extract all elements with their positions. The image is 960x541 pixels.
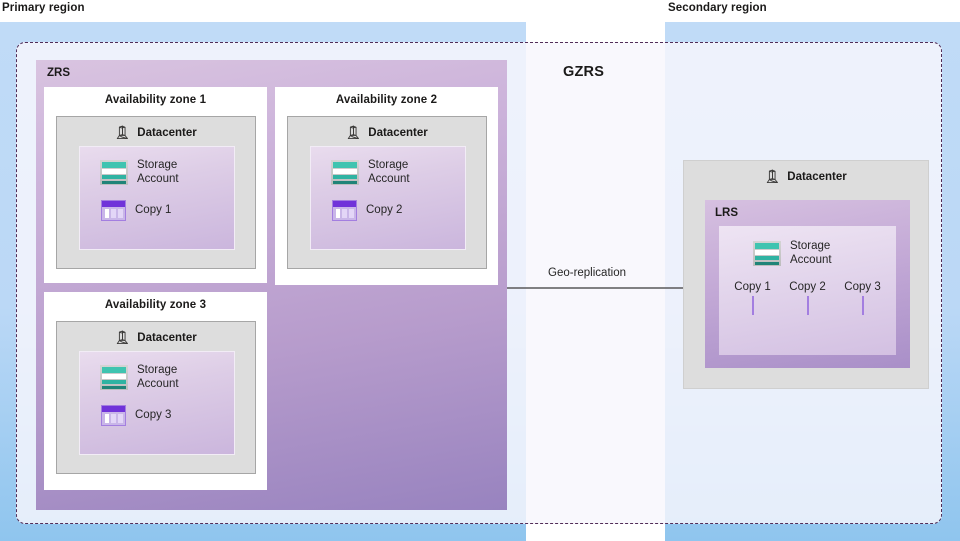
storage-label-line1: Storage: [790, 240, 830, 252]
storage-account-label-zone-3: Storage Account: [137, 364, 179, 391]
copy-label-zone-3: Copy 3: [135, 409, 171, 423]
copy-row-zone-1: Copy 1: [80, 186, 234, 221]
datacenter-icon: [346, 124, 363, 141]
availability-zone-2-title: Availability zone 2: [275, 87, 498, 106]
copy-icon: [332, 200, 357, 221]
storage-account-row-zone-1: Storage Account: [80, 147, 234, 186]
datacenter-box-zone-2: Datacenter Storage Account: [287, 116, 487, 269]
datacenter-label-zone-2: Datacenter: [368, 127, 427, 139]
storage-account-row-zone-3: Storage Account: [80, 352, 234, 391]
datacenter-box-zone-3: Datacenter Storage Account: [56, 321, 256, 474]
datacenter-header-zone-1: Datacenter: [57, 117, 255, 141]
secondary-copy-2: Copy 2: [789, 281, 825, 315]
availability-zone-1-title: Availability zone 1: [44, 87, 267, 106]
geo-replication-arrow-icon: [505, 278, 713, 298]
storage-label-line1: Storage: [368, 159, 408, 171]
storage-label-line2: Account: [790, 254, 832, 266]
datacenter-header-secondary: Datacenter: [684, 161, 928, 185]
lrs-label: LRS: [715, 207, 738, 219]
storage-account-row-zone-2: Storage Account: [311, 147, 465, 186]
datacenter-icon: [115, 329, 132, 346]
copy-icon: [101, 200, 126, 221]
resource-panel-zone-2: Storage Account Copy 2: [310, 146, 466, 250]
storage-label-line1: Storage: [137, 364, 177, 376]
datacenter-icon: [115, 124, 132, 141]
storage-account-label-zone-2: Storage Account: [368, 159, 410, 186]
storage-account-label-zone-1: Storage Account: [137, 159, 179, 186]
datacenter-label-zone-1: Datacenter: [137, 127, 196, 139]
copy-icon: [862, 296, 864, 315]
storage-account-icon: [100, 160, 128, 185]
gzrs-label: GZRS: [563, 64, 604, 80]
storage-label-line2: Account: [137, 173, 179, 185]
datacenter-box-zone-1: Datacenter Storage Account: [56, 116, 256, 269]
storage-label-line1: Storage: [137, 159, 177, 171]
copy-row-zone-3: Copy 3: [80, 391, 234, 426]
secondary-copies-row: Copy 1 Copy 2 Copy 3: [719, 267, 896, 315]
secondary-copy-3: Copy 3: [844, 281, 880, 315]
availability-zone-3-title: Availability zone 3: [44, 292, 267, 311]
datacenter-header-zone-3: Datacenter: [57, 322, 255, 346]
zrs-label: ZRS: [47, 67, 70, 79]
copy-label-secondary-1: Copy 1: [734, 281, 770, 293]
storage-account-row-secondary: Storage Account: [719, 226, 896, 267]
copy-icon: [101, 405, 126, 426]
copy-icon: [752, 296, 754, 315]
copy-row-zone-2: Copy 2: [311, 186, 465, 221]
lrs-resource-panel: Storage Account Copy 1 Copy 2: [719, 226, 896, 355]
storage-account-icon: [100, 365, 128, 390]
storage-account-label-secondary: Storage Account: [790, 240, 832, 267]
storage-account-icon: [753, 241, 781, 266]
resource-panel-zone-3: Storage Account Copy 3: [79, 351, 235, 455]
copy-label-zone-2: Copy 2: [366, 204, 402, 218]
copy-icon: [807, 296, 809, 315]
availability-zone-2: Availability zone 2 Datacenter: [275, 87, 498, 285]
diagram-canvas: Primary region Secondary region GZRS ZRS…: [0, 0, 960, 541]
copy-label-secondary-2: Copy 2: [789, 281, 825, 293]
primary-region-label: Primary region: [2, 2, 85, 14]
datacenter-header-zone-2: Datacenter: [288, 117, 486, 141]
copy-label-zone-1: Copy 1: [135, 204, 171, 218]
datacenter-icon: [765, 168, 782, 185]
storage-account-icon: [331, 160, 359, 185]
datacenter-label-zone-3: Datacenter: [137, 332, 196, 344]
secondary-region-label: Secondary region: [668, 2, 767, 14]
secondary-copy-1: Copy 1: [734, 281, 770, 315]
datacenter-label-secondary: Datacenter: [787, 171, 846, 183]
resource-panel-zone-1: Storage Account Copy 1: [79, 146, 235, 250]
lrs-container: LRS Storage Account Copy 1: [705, 200, 910, 368]
storage-label-line2: Account: [137, 378, 179, 390]
copy-label-secondary-3: Copy 3: [844, 281, 880, 293]
availability-zone-3: Availability zone 3 Datacenter: [44, 292, 267, 490]
storage-label-line2: Account: [368, 173, 410, 185]
secondary-datacenter-box: Datacenter LRS Storage Account Copy 1: [683, 160, 929, 389]
availability-zone-1: Availability zone 1 Datacenter: [44, 87, 267, 283]
